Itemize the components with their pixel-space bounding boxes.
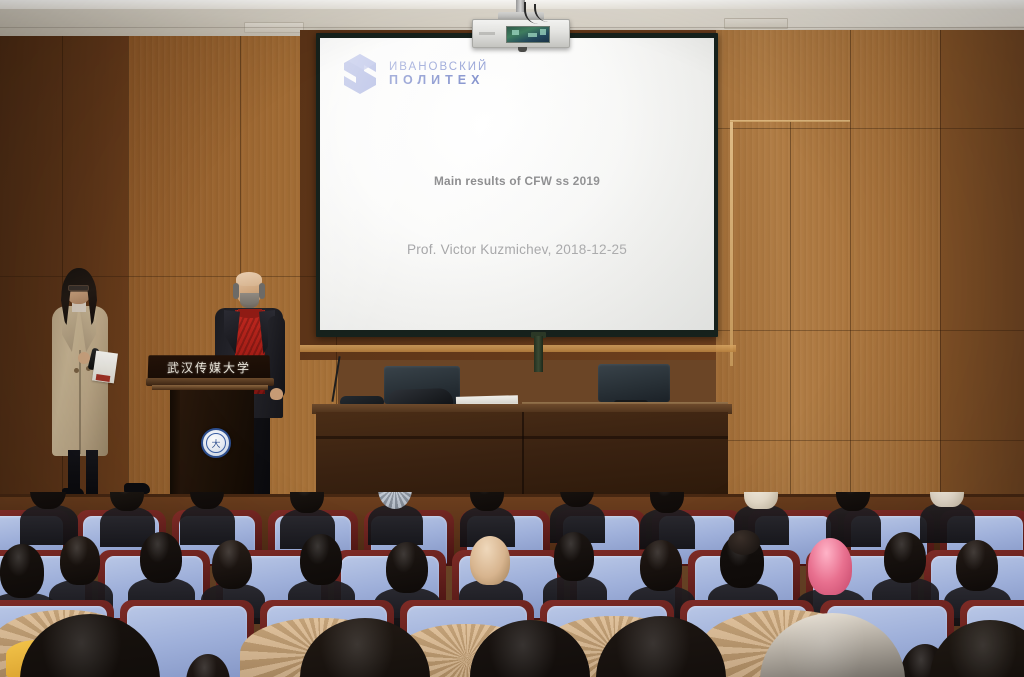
chair-back-right	[598, 364, 670, 402]
man-hair-left	[233, 283, 239, 299]
woman-glasses-icon	[68, 285, 89, 291]
screen-support-post	[534, 336, 543, 372]
ivanovo-polytech-hex-logo-icon	[340, 52, 380, 96]
wall-seam	[716, 440, 1024, 441]
projector-lens	[518, 47, 527, 52]
man-hair-right	[259, 283, 265, 299]
audience-member-head	[0, 544, 44, 598]
audience-member-head	[808, 538, 852, 595]
wall-seam	[716, 330, 1024, 331]
woman-hand	[78, 352, 90, 364]
projector-chip	[540, 29, 546, 35]
logo-line-1: ИВАНОВСКИЙ	[389, 61, 488, 74]
audience-member-shoulders	[368, 505, 422, 545]
man-sweater-collar	[238, 309, 262, 318]
woman-coat-seam	[79, 350, 81, 454]
audience-member-head	[930, 492, 964, 507]
woman-leg-right	[86, 450, 98, 496]
wall-trim-gold	[730, 120, 733, 366]
audience-hair-bun	[728, 530, 760, 555]
projector-label-strip	[479, 32, 495, 35]
audience-member-head	[640, 540, 682, 591]
audience-member-head	[554, 532, 594, 581]
audience-member-head	[956, 540, 998, 591]
podium-emblem-glyph: 大	[206, 433, 226, 453]
wall-seam	[240, 36, 241, 276]
audience-member-head	[140, 532, 182, 583]
man-forehead	[236, 272, 262, 286]
audience-member-head	[744, 492, 778, 509]
podium-lip-lower	[152, 385, 268, 390]
audience-member-shoulders	[180, 505, 234, 545]
slide-logo-text: ИВАНОВСКИЙ ПОЛИТЕХ	[389, 61, 488, 88]
lecture-hall-photo: ИВАНОВСКИЙ ПОЛИТЕХ Main results of CFW s…	[0, 0, 1024, 677]
woman-coat-button	[74, 368, 79, 373]
audience-area	[0, 492, 1024, 677]
audience-member-head	[60, 536, 100, 585]
slide-title: Main results of CFW ss 2019	[320, 174, 714, 188]
projector-chip	[528, 33, 537, 37]
wall-seam	[0, 276, 336, 277]
wall-accent-band	[300, 345, 736, 352]
audience-member-head	[212, 540, 252, 589]
podium-side	[170, 389, 180, 502]
wall-seam	[850, 30, 851, 510]
audience-member-shoulders	[920, 503, 974, 543]
slide-logo: ИВАНОВСКИЙ ПОЛИТЕХ	[340, 52, 488, 96]
audience-member-head	[470, 536, 510, 585]
audience-member-head	[884, 532, 926, 583]
wall-seam	[790, 120, 791, 510]
wall-seam	[940, 30, 941, 510]
man-hand-right	[270, 388, 283, 400]
ceiling-edge-strip	[0, 0, 1024, 9]
wall-seam	[128, 36, 129, 506]
wall-trim-gold	[730, 120, 850, 122]
slide-subtitle: Prof. Victor Kuzmichev, 2018-12-25	[320, 242, 714, 257]
logo-line-2: ПОЛИТЕХ	[389, 73, 488, 87]
man-beard	[240, 293, 259, 308]
wall-seam	[716, 128, 1024, 129]
podium-nameplate: 武汉传媒大学	[152, 358, 266, 377]
projector-chip	[512, 30, 519, 35]
wall-right-far-panel	[940, 30, 1024, 510]
audience-member-head	[386, 542, 428, 593]
audience-member-head	[300, 534, 342, 585]
